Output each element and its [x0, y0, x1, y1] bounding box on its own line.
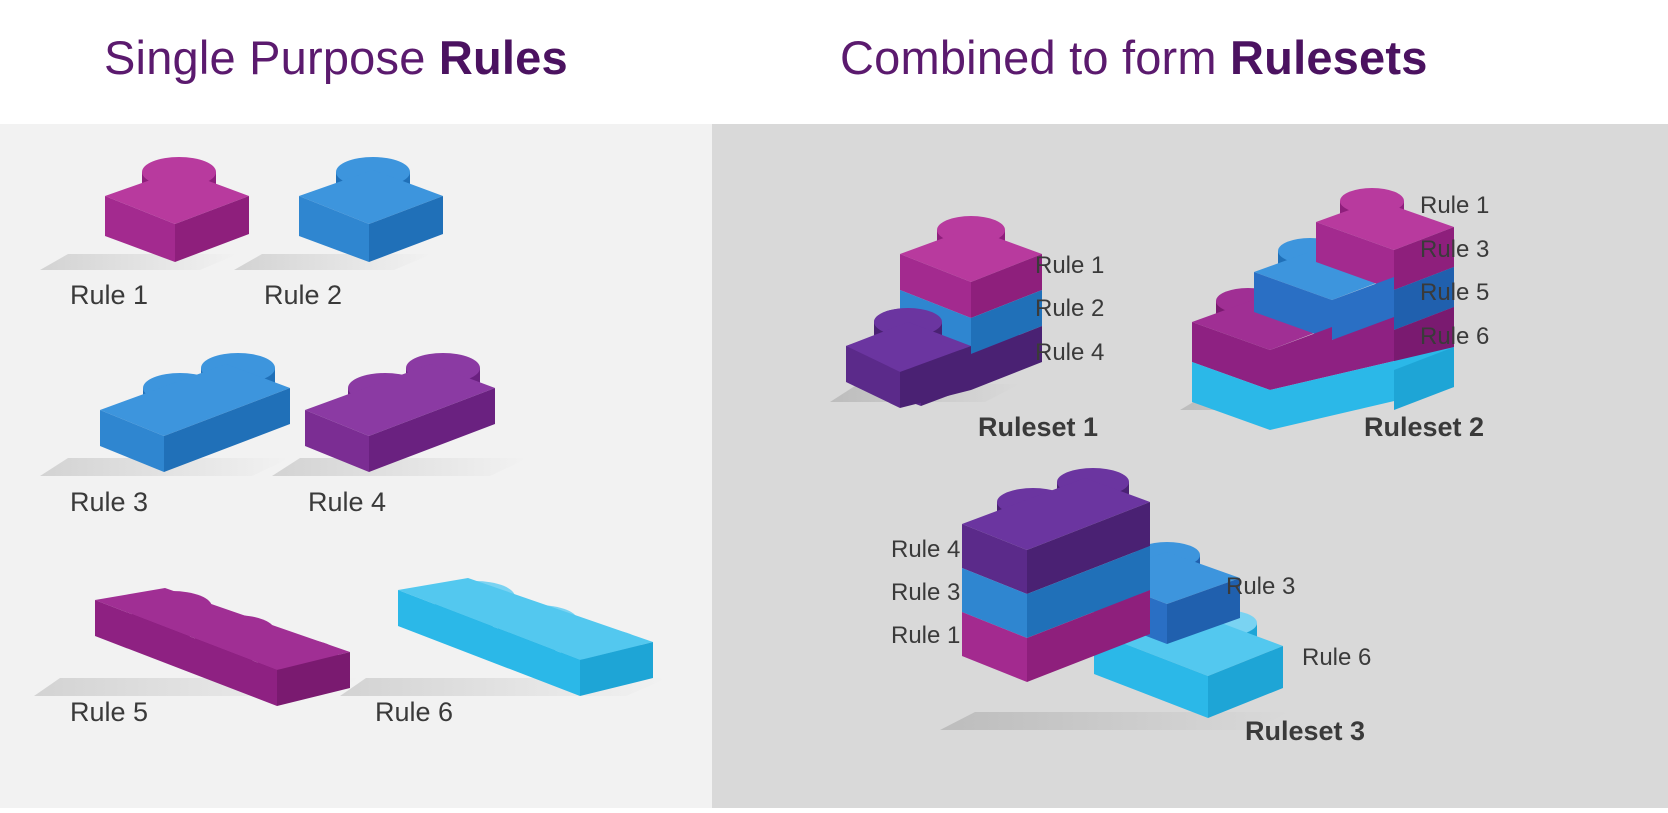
ruleset-2-layer-label-2: Rule 5: [1420, 281, 1489, 305]
right-panel-shape: [0, 124, 1668, 808]
ruleset-1-layer-label-1: Rule 2: [1035, 297, 1104, 321]
ruleset-3-layer-label-1: Rule 3: [891, 581, 960, 605]
page-title-left: Single Purpose Rules: [104, 34, 568, 81]
title-left-plain: Single Purpose: [104, 31, 439, 84]
ruleset-3-layer-label-0: Rule 4: [891, 538, 960, 562]
ruleset-3-layer-label-3: Rule 3: [1226, 575, 1295, 599]
title-right-bold: Rulesets: [1230, 31, 1428, 84]
ruleset-3-caption: Ruleset 3: [1245, 718, 1365, 745]
ruleset-2-layer-label-0: Rule 1: [1420, 194, 1489, 218]
left-brick-label-rule-4: Rule 4: [308, 489, 386, 516]
ruleset-1-layer-label-0: Rule 1: [1035, 254, 1104, 278]
ruleset-2-layer-label-1: Rule 3: [1420, 238, 1489, 262]
left-brick-label-rule-3: Rule 3: [70, 489, 148, 516]
right-panel-background: [0, 124, 1668, 808]
ruleset-1-caption: Ruleset 1: [978, 414, 1098, 441]
ruleset-3-layer-label-4: Rule 6: [1302, 646, 1371, 670]
page-title-right: Combined to form Rulesets: [840, 34, 1428, 81]
left-brick-label-rule-5: Rule 5: [70, 699, 148, 726]
ruleset-2-caption: Ruleset 2: [1364, 414, 1484, 441]
left-brick-label-rule-2: Rule 2: [264, 282, 342, 309]
header-bar: Single Purpose Rules Combined to form Ru…: [0, 0, 1668, 124]
infographic-root: Single Purpose Rules Combined to form Ru…: [0, 0, 1668, 808]
ruleset-1-layer-label-2: Rule 4: [1035, 341, 1104, 365]
title-left-bold: Rules: [439, 31, 568, 84]
title-right-plain: Combined to form: [840, 31, 1230, 84]
left-brick-label-rule-6: Rule 6: [375, 699, 453, 726]
left-brick-label-rule-1: Rule 1: [70, 282, 148, 309]
ruleset-3-layer-label-2: Rule 1: [891, 624, 960, 648]
ruleset-2-layer-label-3: Rule 6: [1420, 325, 1489, 349]
